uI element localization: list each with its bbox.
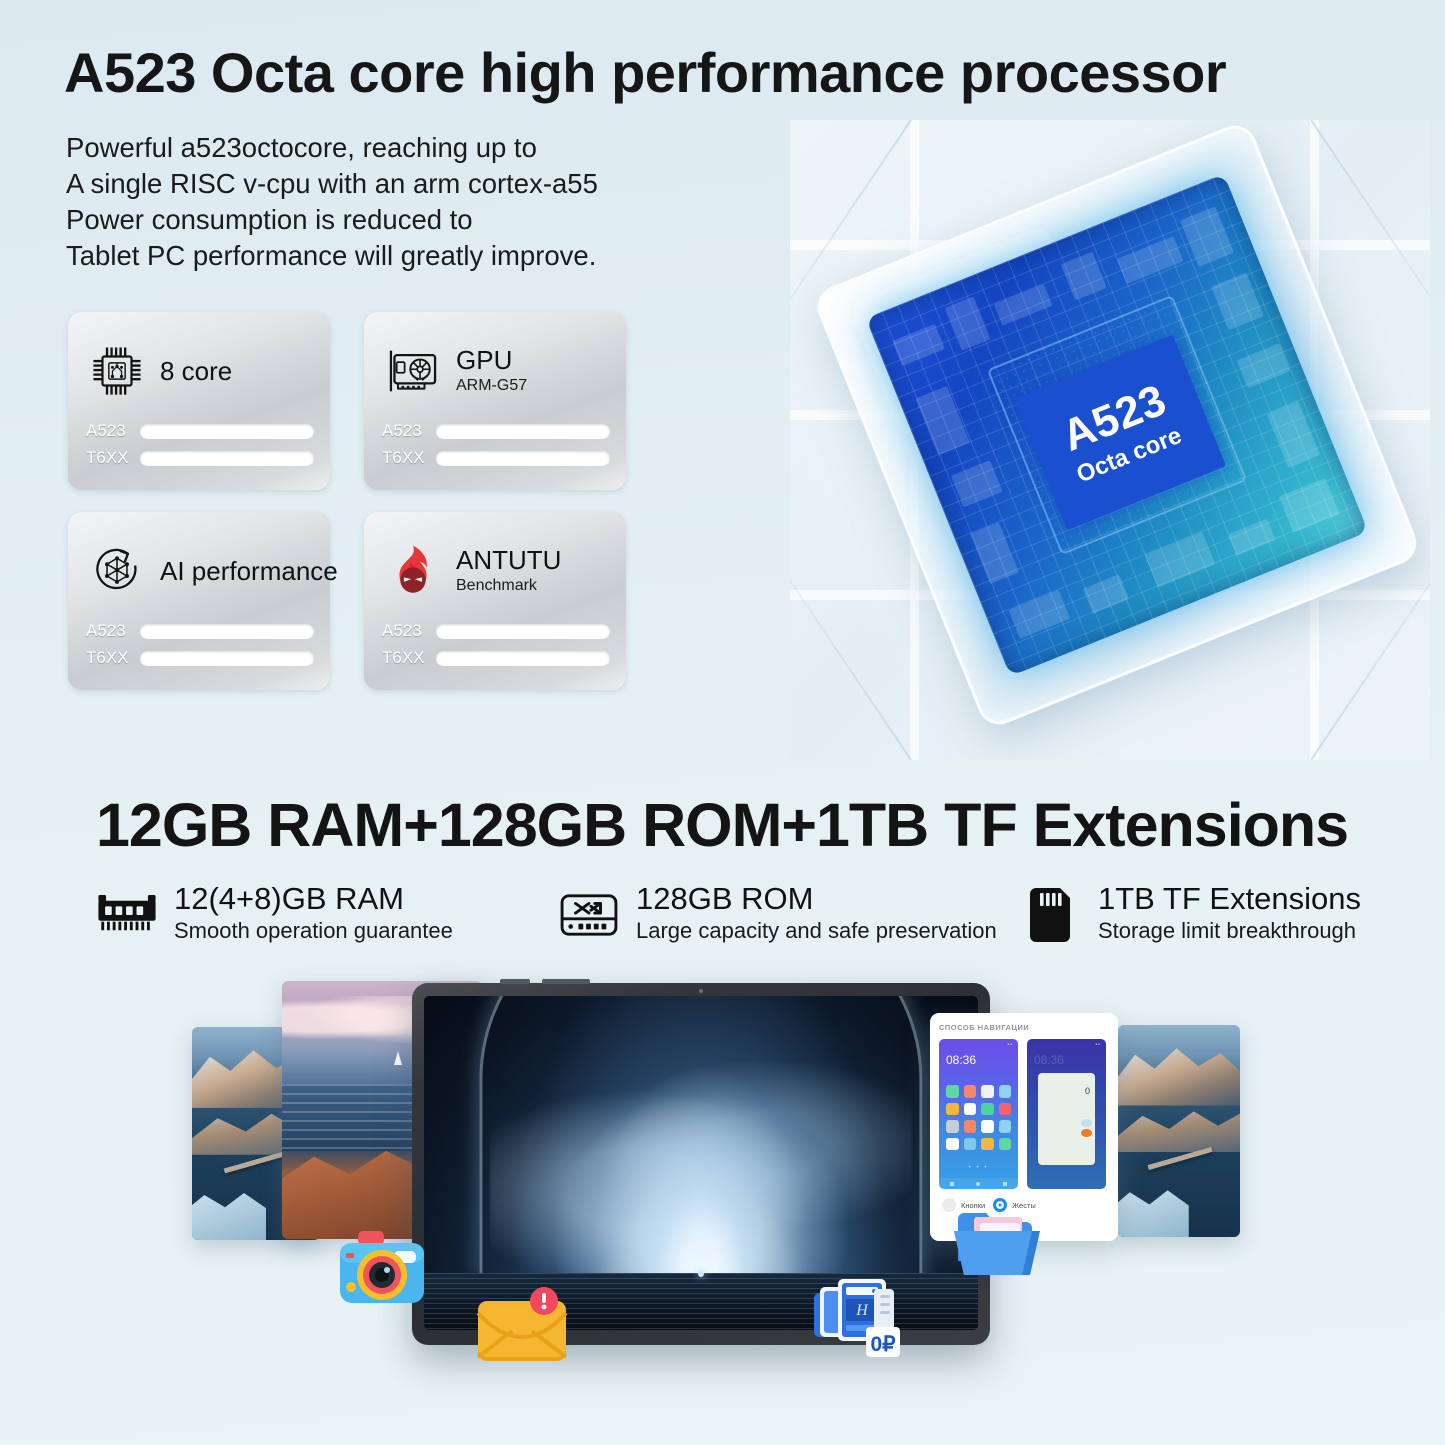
ram-stick-icon [94, 882, 160, 948]
spec-card-title: GPU [456, 346, 527, 375]
gpu-card-icon [382, 340, 444, 402]
memory-section-title: 12GB RAM+128GB ROM+1TB TF Extensions [96, 790, 1348, 860]
spec-card-header: 8 core [86, 332, 318, 410]
bar-track [140, 651, 314, 666]
antutu-flame-icon [382, 540, 444, 602]
page-indicator: • • • [939, 1165, 1018, 1171]
memory-feature-subtitle: Large capacity and safe preservation [636, 917, 997, 945]
bar-row: A523 [86, 621, 314, 641]
bar-row: T6XX [382, 448, 610, 468]
spec-card-titles: ANTUTU Benchmark [456, 546, 561, 596]
product-infographic-page: A523 Octa core high performance processo… [0, 0, 1445, 1445]
spec-card-cpu: 8 core A523 T6XX [68, 312, 330, 490]
spec-card-header: AI performance [86, 532, 318, 610]
bar-label: A523 [86, 621, 140, 641]
spec-card-titles: 8 core [160, 357, 232, 386]
spec-card-title: AI performance [160, 557, 338, 586]
spec-card-title: ANTUTU [456, 546, 561, 575]
memory-feature-row: 12(4+8)GB RAM Smooth operation guarantee [88, 880, 1388, 960]
spec-card-bars: A523 T6XX [382, 414, 610, 468]
front-camera-icon [699, 989, 703, 993]
windows-files-emoji: H 0₽ [812, 1265, 922, 1363]
phone-preview-gestures[interactable]: •• 08:36 0 [1027, 1039, 1106, 1189]
volume-up-button[interactable] [500, 979, 530, 984]
settings-preview-row: •• 08:36 • • • •• 08:36 [939, 1039, 1109, 1189]
fjord-photo [1118, 1025, 1240, 1237]
spec-card-gpu: GPU ARM-G57 A523 T6XX [364, 312, 626, 490]
cpu-description-line: Power consumption is reduced to [66, 202, 598, 238]
spec-card-title: 8 core [160, 357, 232, 386]
bar-track [436, 451, 610, 466]
spec-card-bars: A523 T6XX [86, 414, 314, 468]
spec-card-ai: AI performance A523 T6XX [68, 512, 330, 690]
memory-feature-subtitle: Storage limit breakthrough [1098, 917, 1361, 945]
svg-text:H: H [855, 1302, 869, 1319]
memory-feature-ram: 12(4+8)GB RAM Smooth operation guarantee [94, 882, 453, 948]
bar-track [436, 424, 610, 439]
page-title: A523 Octa core high performance processo… [64, 40, 1226, 105]
calculator-display: 0 [1038, 1073, 1095, 1099]
phone-preview-buttons[interactable]: •• 08:36 • • • [939, 1039, 1018, 1189]
hard-disk-icon [556, 882, 622, 948]
spec-card-subtitle: Benchmark [456, 575, 561, 597]
memory-feature-subtitle: Smooth operation guarantee [174, 917, 453, 945]
memory-feature-title: 12(4+8)GB RAM [174, 882, 453, 917]
memory-feature-text: 1TB TF Extensions Storage limit breakthr… [1098, 882, 1361, 944]
bar-label: T6XX [86, 648, 140, 668]
calculator-app-preview: 0 [1038, 1073, 1095, 1165]
cpu-description-line: A single RISC v-cpu with an arm cortex-a… [66, 166, 598, 202]
bar-row: T6XX [86, 648, 314, 668]
bar-label: A523 [86, 421, 140, 441]
envelope-alert-emoji [472, 1287, 578, 1365]
open-folder-emoji [952, 1203, 1044, 1281]
cpu-description-line: Powerful a523octocore, reaching up to [66, 130, 598, 166]
bar-label: T6XX [382, 648, 436, 668]
bar-track [140, 424, 314, 439]
memory-feature-tf: 1TB TF Extensions Storage limit breakthr… [1018, 882, 1361, 948]
svg-text:0₽: 0₽ [870, 1333, 896, 1356]
spec-card-antutu: ANTUTU Benchmark A523 T6XX [364, 512, 626, 690]
cpu-description: Powerful a523octocore, reaching up to A … [66, 130, 598, 274]
bar-track [436, 624, 610, 639]
bar-label: T6XX [86, 448, 140, 468]
bar-label: A523 [382, 421, 436, 441]
memory-feature-rom: 128GB ROM Large capacity and safe preser… [556, 882, 997, 948]
device-showcase-scene: СПОСОБ НАВИГАЦИИ •• 08:36 • • • •• [0, 965, 1445, 1445]
bar-label: A523 [382, 621, 436, 641]
bar-row: A523 [382, 421, 610, 441]
ai-network-icon [86, 540, 148, 602]
camera-emoji [334, 1227, 430, 1315]
photo-card-fjord-right [1118, 1025, 1240, 1237]
spec-card-titles: GPU ARM-G57 [456, 346, 527, 396]
power-button[interactable] [542, 979, 590, 984]
bar-track [140, 624, 314, 639]
bar-label: T6XX [382, 448, 436, 468]
tf-card-icon [1018, 882, 1084, 948]
calculator-value: 0 [1085, 1086, 1090, 1096]
memory-feature-text: 12(4+8)GB RAM Smooth operation guarantee [174, 882, 453, 944]
spec-card-header: GPU ARM-G57 [382, 332, 614, 410]
phone-clock: 08:36 [946, 1053, 976, 1067]
spec-card-header: ANTUTU Benchmark [382, 532, 614, 610]
cpu-chip-icon [86, 340, 148, 402]
spec-card-titles: AI performance [160, 557, 338, 586]
calculator-keys [1038, 1099, 1095, 1140]
app-icon-grid [946, 1085, 1011, 1150]
bar-track [436, 651, 610, 666]
cpu-description-line: Tablet PC performance will greatly impro… [66, 238, 598, 274]
status-bar-icons: •• [1007, 1042, 1013, 1048]
phone-clock: 08:36 [1034, 1053, 1064, 1067]
bar-row: A523 [382, 621, 610, 641]
spec-card-bars: A523 T6XX [382, 614, 610, 668]
status-bar-icons: •• [1095, 1042, 1101, 1048]
phone-navbar [939, 1178, 1018, 1189]
bar-row: T6XX [382, 648, 610, 668]
chip-hero-image: A523 Octa core [790, 120, 1430, 760]
bar-track [140, 451, 314, 466]
spec-card-subtitle: ARM-G57 [456, 375, 527, 397]
memory-feature-title: 1TB TF Extensions [1098, 882, 1361, 917]
bar-row: A523 [86, 421, 314, 441]
settings-panel-title: СПОСОБ НАВИГАЦИИ [939, 1023, 1109, 1032]
memory-feature-text: 128GB ROM Large capacity and safe preser… [636, 882, 997, 944]
bar-row: T6XX [86, 448, 314, 468]
memory-feature-title: 128GB ROM [636, 882, 997, 917]
spec-card-bars: A523 T6XX [86, 614, 314, 668]
